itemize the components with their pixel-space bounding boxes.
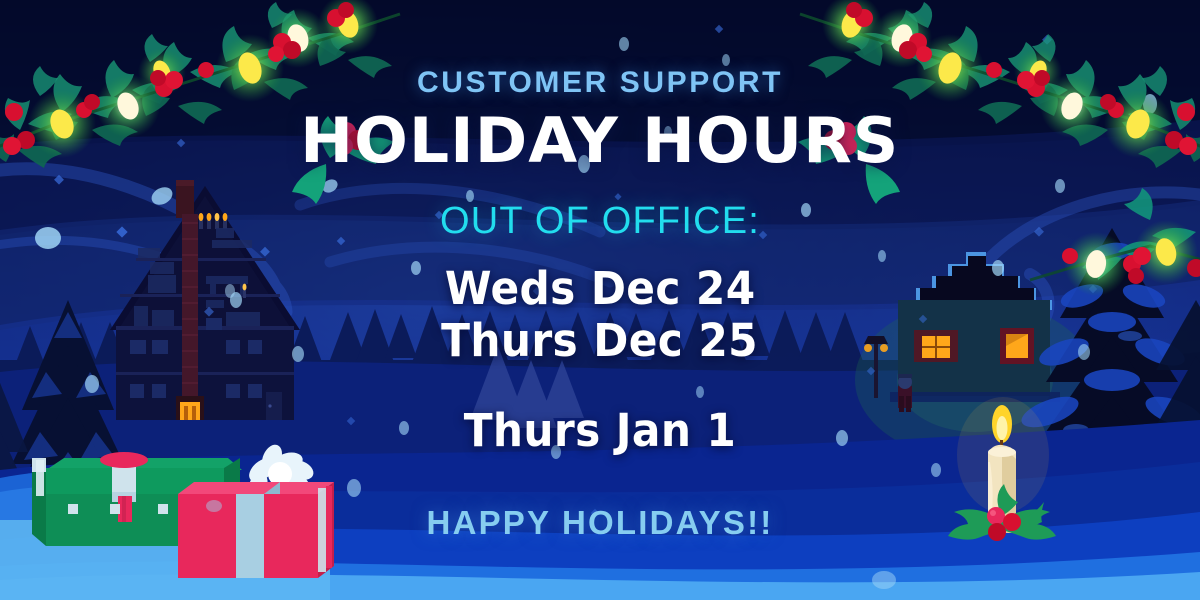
- holiday-hours-poster: CUSTOMER SUPPORT HOLIDAY HOURS OUT OF OF…: [0, 0, 1200, 600]
- holly-sprig-right: [798, 116, 900, 204]
- holly-garland-right: [0, 0, 1200, 600]
